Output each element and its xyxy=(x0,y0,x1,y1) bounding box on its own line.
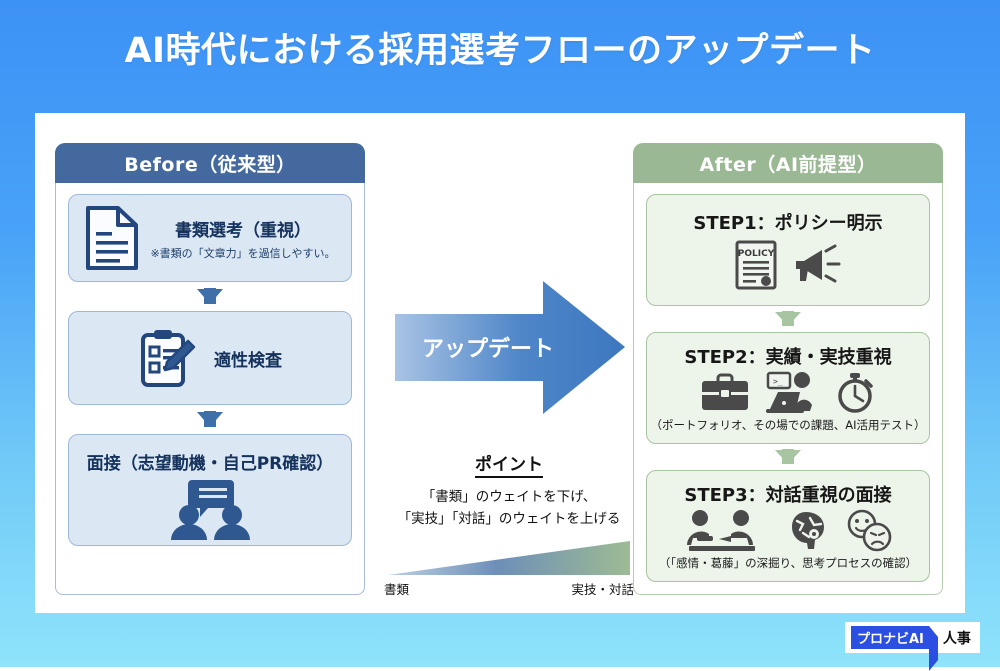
slide-canvas: AI時代における採用選考フローのアップデート Before（従来型） xyxy=(0,0,1000,667)
before-step-1-text: 書類選考（重視） ※書類の「文章力」を過信しやすい。 xyxy=(150,216,335,261)
wedge-labels: 書類 実技・対話 xyxy=(384,579,634,598)
before-panel: Before（従来型） 書類選考（重視） ※書類の「文章力」を過信しやすい。 xyxy=(55,143,365,595)
after-step-1-icons: POLICY xyxy=(734,239,842,291)
emotion-faces-icon xyxy=(843,509,893,553)
brand-tail: 人事 xyxy=(943,628,971,648)
after-arrow-2 xyxy=(775,450,801,464)
brand-logo[interactable]: プロナビAI 人事 xyxy=(845,622,980,653)
after-step-3-title: STEP3：対話重視の面接 xyxy=(684,481,891,507)
update-arrow-label: アップデート xyxy=(413,331,563,363)
before-step-3[interactable]: 面接（志望動機・自己PR確認） xyxy=(68,434,352,546)
after-step-1[interactable]: STEP1：ポリシー明示 POLICY xyxy=(646,194,930,306)
before-step-2-title: 適性検査 xyxy=(214,346,282,371)
svg-text:>_: >_ xyxy=(773,377,783,386)
clipboard-pencil-icon xyxy=(138,327,196,389)
after-step-2-title: STEP2：実績・実技重視 xyxy=(684,343,891,369)
point-title: ポイント xyxy=(475,450,543,478)
wedge-left-label: 書類 xyxy=(384,579,409,598)
briefcase-icon xyxy=(700,373,750,413)
after-header: After（AI前提型） xyxy=(633,143,943,183)
update-arrow: アップデート xyxy=(395,281,625,414)
brand-badge: プロナビAI xyxy=(851,626,929,649)
before-step-1-title: 書類選考（重視） xyxy=(150,216,335,241)
brain-gear-icon xyxy=(783,509,829,553)
after-step-2-icons: >_ xyxy=(700,371,876,415)
after-arrow-1 xyxy=(775,312,801,326)
before-step-1[interactable]: 書類選考（重視） ※書類の「文章力」を過信しやすい。 xyxy=(68,194,352,282)
page-title: AI時代における採用選考フローのアップデート xyxy=(0,22,1000,73)
stopwatch-icon xyxy=(834,371,876,415)
after-step-3-icons xyxy=(683,509,893,553)
two-people-speech-icon xyxy=(156,478,264,540)
after-step-3[interactable]: STEP3：対話重視の面接 xyxy=(646,470,930,582)
point-line-1: 「書類」のウェイトを下げ、 xyxy=(378,485,640,505)
before-step-2[interactable]: 適性検査 xyxy=(68,311,352,405)
before-header: Before（従来型） xyxy=(55,143,365,183)
before-body: 書類選考（重視） ※書類の「文章力」を過信しやすい。 xyxy=(55,183,365,595)
before-arrow-1 xyxy=(197,289,223,304)
document-icon xyxy=(84,205,140,271)
after-step-1-title: STEP1：ポリシー明示 xyxy=(693,209,882,235)
megaphone-icon xyxy=(792,243,842,287)
policy-document-icon: POLICY xyxy=(734,239,778,291)
before-arrow-2 xyxy=(197,412,223,427)
weight-wedge xyxy=(384,537,634,577)
point-line-2: 「実技」「対話」のウェイトを上げる xyxy=(378,507,640,527)
point-block: ポイント 「書類」のウェイトを下げ、 「実技」「対話」のウェイトを上げる 書類 … xyxy=(378,450,640,598)
person-laptop-icon: >_ xyxy=(764,371,820,415)
before-step-3-title: 面接（志望動機・自己PR確認） xyxy=(87,449,334,474)
after-panel: After（AI前提型） STEP1：ポリシー明示 POLICY xyxy=(633,143,943,595)
svg-text:POLICY: POLICY xyxy=(738,249,775,259)
point-title-wrap: ポイント xyxy=(378,450,640,478)
before-step-1-note: ※書類の「文章力」を過信しやすい。 xyxy=(150,245,335,261)
after-step-3-note: （「感情・葛藤」の深掘り、思考プロセスの確認） xyxy=(659,555,917,571)
after-step-2-note: （ポートフォリオ、その場での課題、AI活用テスト） xyxy=(650,417,925,433)
after-step-2[interactable]: STEP2：実績・実技重視 >_ xyxy=(646,332,930,444)
interview-table-icon xyxy=(683,509,769,553)
wedge-right-label: 実技・対話 xyxy=(571,579,634,598)
after-body: STEP1：ポリシー明示 POLICY xyxy=(633,183,943,595)
